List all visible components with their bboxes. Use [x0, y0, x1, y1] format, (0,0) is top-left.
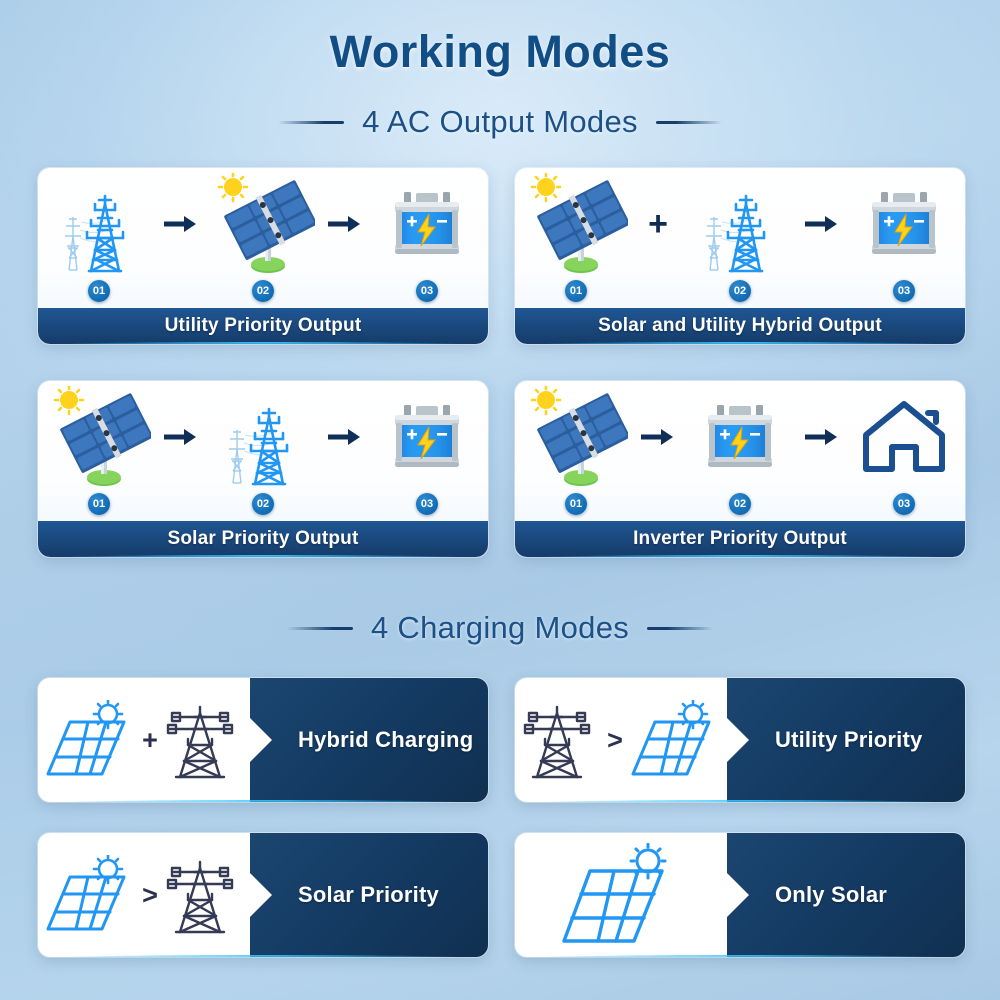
plus-separator: +	[140, 727, 160, 754]
greater-than-separator: >	[140, 882, 160, 909]
arrow-icon	[637, 427, 679, 447]
charging-mode-label-panel: Solar Priority	[250, 833, 488, 957]
ac-mode-title: Solar and Utility Hybrid Output	[515, 308, 965, 344]
power-tower-line-icon	[523, 699, 599, 781]
ac-mode-title: Solar Priority Output	[38, 521, 488, 557]
step-badge: 03	[416, 280, 438, 302]
plus-icon: +	[637, 207, 679, 241]
chevron-right-icon	[727, 873, 749, 917]
ac-mode-card[interactable]: 01 02 03 Solar Priority Output	[38, 381, 488, 557]
step-badge: 02	[729, 493, 751, 515]
house-icon	[850, 385, 958, 489]
battery-icon	[373, 172, 481, 276]
step-badge: 02	[252, 493, 274, 515]
step-badge: 03	[893, 493, 915, 515]
step-badge: 03	[893, 280, 915, 302]
section-heading-ac-output: 4 AC Output Modes	[0, 104, 1000, 140]
charging-mode-icons: +	[38, 678, 250, 802]
charging-mode-label-panel: Utility Priority	[727, 678, 965, 802]
page-title: Working Modes	[0, 26, 1000, 78]
ac-mode-card[interactable]: 01 02 03 Utility Priority Output	[38, 168, 488, 344]
section-heading-charging: 4 Charging Modes	[0, 610, 1000, 646]
battery-icon	[373, 385, 481, 489]
solar-panel-icon	[209, 172, 317, 276]
section-heading-charging-label: 4 Charging Modes	[371, 610, 629, 646]
divider-line-left	[287, 627, 353, 630]
step-badge: 03	[416, 493, 438, 515]
power-tower-icon	[686, 172, 794, 276]
charging-mode-icons	[515, 833, 727, 957]
chevron-right-icon	[250, 873, 272, 917]
step-badge: 01	[88, 493, 110, 515]
power-tower-icon	[45, 172, 153, 276]
charging-mode-label: Only Solar	[775, 882, 887, 908]
charging-mode-label: Hybrid Charging	[298, 727, 473, 753]
charging-mode-label: Utility Priority	[775, 727, 922, 753]
arrow-icon	[801, 214, 843, 234]
charging-mode-card[interactable]: Only Solar	[515, 833, 965, 957]
charging-mode-label: Solar Priority	[298, 882, 439, 908]
arrow-icon	[160, 214, 202, 234]
power-tower-line-icon	[166, 699, 242, 781]
power-tower-line-icon	[166, 854, 242, 936]
ac-mode-card[interactable]: +	[515, 168, 965, 344]
chevron-right-icon	[250, 718, 272, 762]
divider-line-left	[278, 121, 344, 124]
ac-mode-title: Inverter Priority Output	[515, 521, 965, 557]
ac-mode-flow: 01 02 03	[515, 381, 965, 521]
charging-mode-card[interactable]: > Sola	[38, 833, 488, 957]
ac-mode-flow: 01 02 03	[38, 168, 488, 308]
solar-panel-line-icon	[46, 700, 134, 780]
power-tower-icon	[209, 385, 317, 489]
divider-line-right	[656, 121, 722, 124]
greater-than-separator: >	[605, 727, 625, 754]
solar-panel-icon	[45, 385, 153, 489]
step-badge: 01	[565, 280, 587, 302]
charging-mode-label-panel: Only Solar	[727, 833, 965, 957]
solar-panel-line-icon	[46, 855, 134, 935]
sun-icon	[219, 173, 247, 201]
ac-mode-flow: +	[515, 168, 965, 308]
charging-mode-card[interactable]: >	[515, 678, 965, 802]
arrow-icon	[801, 427, 843, 447]
step-badge: 01	[565, 493, 587, 515]
charging-mode-icons: >	[515, 678, 727, 802]
arrow-icon	[324, 427, 366, 447]
charging-mode-label-panel: Hybrid Charging	[250, 678, 488, 802]
charging-mode-card[interactable]: +	[38, 678, 488, 802]
solar-panel-line-icon	[562, 843, 680, 947]
ac-mode-card[interactable]: 01 02 03 Inverter Priority Output	[515, 381, 965, 557]
step-badge: 02	[729, 280, 751, 302]
chevron-right-icon	[727, 718, 749, 762]
ac-mode-title: Utility Priority Output	[38, 308, 488, 344]
solar-panel-line-icon	[631, 700, 719, 780]
arrow-icon	[324, 214, 366, 234]
ac-mode-flow: 01 02 03	[38, 381, 488, 521]
section-heading-ac-output-label: 4 AC Output Modes	[362, 104, 638, 140]
solar-panel-icon	[522, 172, 630, 276]
step-badge: 02	[252, 280, 274, 302]
solar-panel-icon	[522, 385, 630, 489]
battery-icon	[850, 172, 958, 276]
arrow-icon	[160, 427, 202, 447]
divider-line-right	[647, 627, 713, 630]
working-modes-infographic: Working Modes 4 AC Output Modes 4 Chargi…	[0, 0, 1000, 1000]
charging-mode-icons: >	[38, 833, 250, 957]
step-badge: 01	[88, 280, 110, 302]
battery-icon	[686, 385, 794, 489]
